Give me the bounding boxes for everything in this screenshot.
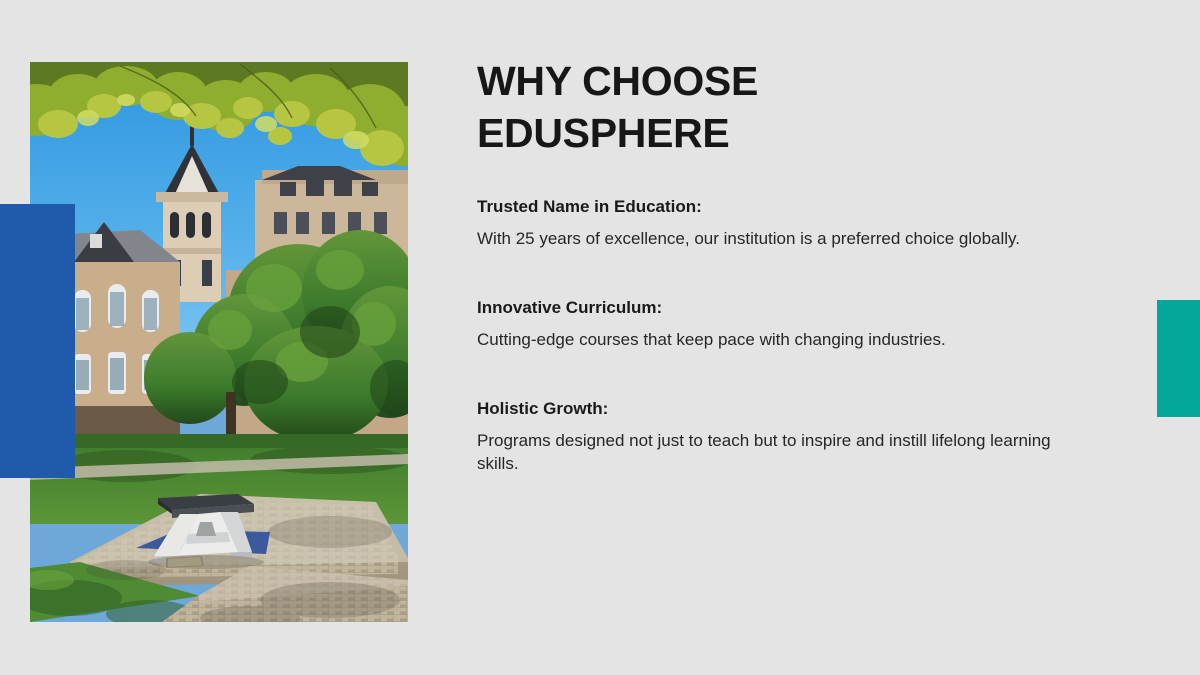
benefit-item-2: Innovative Curriculum: Cutting-edge cour… bbox=[477, 296, 1117, 351]
benefit-heading-3: Holistic Growth: bbox=[477, 397, 1117, 421]
benefit-heading-2: Innovative Curriculum: bbox=[477, 296, 1117, 320]
page-title-line-1: WHY CHOOSE bbox=[477, 58, 758, 104]
page-title: WHY CHOOSE EDUSPHERE bbox=[477, 55, 897, 159]
benefit-body-3: Programs designed not just to teach but … bbox=[477, 429, 1077, 475]
benefit-spacer-2 bbox=[477, 381, 1117, 397]
campus-photo bbox=[30, 62, 408, 622]
benefit-item-3: Holistic Growth: Programs designed not j… bbox=[477, 397, 1117, 475]
blue-accent-rectangle bbox=[0, 204, 75, 478]
benefit-heading-1: Trusted Name in Education: bbox=[477, 195, 1117, 219]
teal-accent-rectangle bbox=[1157, 300, 1200, 417]
benefit-body-1: With 25 years of excellence, our institu… bbox=[477, 227, 1077, 250]
benefit-body-2: Cutting-edge courses that keep pace with… bbox=[477, 328, 1077, 351]
presentation-slide: WHY CHOOSE EDUSPHERE Trusted Name in Edu… bbox=[0, 0, 1200, 675]
content-column: WHY CHOOSE EDUSPHERE Trusted Name in Edu… bbox=[477, 55, 1117, 475]
benefit-item-1: Trusted Name in Education: With 25 years… bbox=[477, 195, 1117, 250]
benefit-spacer-1 bbox=[477, 280, 1117, 296]
benefits-list: Trusted Name in Education: With 25 years… bbox=[477, 195, 1117, 475]
campus-photo-illustration bbox=[30, 62, 408, 622]
page-title-line-2: EDUSPHERE bbox=[477, 110, 729, 156]
